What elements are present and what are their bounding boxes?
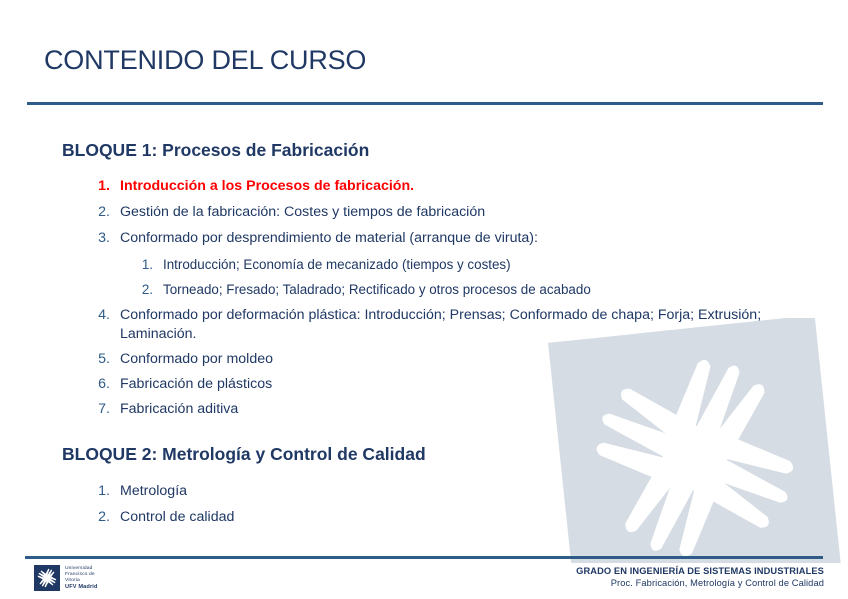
- footer-course-info: GRADO EN INGENIERÍA DE SISTEMAS INDUSTRI…: [576, 566, 824, 588]
- list-item-number: 4.: [88, 306, 110, 325]
- list-item-number: 6.: [88, 375, 110, 394]
- list-item-text: Conformado por desprendimiento de materi…: [120, 229, 788, 248]
- ufv-logo-mark: [34, 565, 60, 591]
- list-item-number: 1.: [88, 482, 110, 501]
- list-item-number: 2.: [88, 203, 110, 222]
- list-item: 1. Introducción a los Procesos de fabric…: [88, 177, 788, 196]
- list-item-number: 2.: [88, 508, 110, 527]
- block-heading-2: BLOQUE 2: Metrología y Control de Calida…: [62, 444, 426, 465]
- list-item: 4. Conformado por deformación plástica: …: [88, 306, 788, 344]
- ufv-logo-text: Universidad Francisco de Vitoria UFV Mad…: [65, 566, 98, 591]
- list-item-text: Conformado por moldeo: [120, 350, 788, 369]
- list-item: 3. Conformado por desprendimiento de mat…: [88, 229, 788, 248]
- list-item-text: Control de calidad: [120, 508, 788, 527]
- list-item-text: Conformado por deformación plástica: Int…: [120, 306, 788, 344]
- list-item: 7. Fabricación aditiva: [88, 400, 788, 419]
- logo-line-4: UFV Madrid: [65, 584, 98, 590]
- list-item: 6. Fabricación de plásticos: [88, 375, 788, 394]
- list-item-text: Metrología: [120, 482, 788, 501]
- list-item: 1. Introducción; Economía de mecanizado …: [135, 255, 775, 274]
- footer-subject-name: Proc. Fabricación, Metrología y Control …: [576, 578, 824, 588]
- list-item-number: 3.: [88, 229, 110, 248]
- page-title: CONTENIDO DEL CURSO: [44, 45, 366, 76]
- list-item: 1. Metrología: [88, 482, 788, 501]
- list-item-number: 1.: [135, 255, 153, 274]
- block-heading-1: BLOQUE 1: Procesos de Fabricación: [62, 140, 369, 161]
- list-item-text: Introducción; Economía de mecanizado (ti…: [163, 255, 775, 274]
- ufv-logo: Universidad Francisco de Vitoria UFV Mad…: [34, 565, 98, 591]
- list-item-number: 5.: [88, 350, 110, 369]
- slide-canvas: CONTENIDO DEL CURSO BLOQUE 1: Procesos d…: [0, 0, 848, 599]
- list-item-text: Fabricación aditiva: [120, 400, 788, 419]
- list-item: 2. Gestión de la fabricación: Costes y t…: [88, 203, 788, 222]
- list-item: 2. Control de calidad: [88, 508, 788, 527]
- footer-degree-name: GRADO EN INGENIERÍA DE SISTEMAS INDUSTRI…: [576, 566, 824, 576]
- list-item-number: 2.: [135, 280, 153, 299]
- footer-divider: [25, 556, 823, 559]
- title-divider: [27, 102, 823, 105]
- list-item-number: 1.: [88, 177, 110, 196]
- list-item-number: 7.: [88, 400, 110, 419]
- list-item-text: Torneado; Fresado; Taladrado; Rectificad…: [163, 280, 775, 299]
- list-item: 2. Torneado; Fresado; Taladrado; Rectifi…: [135, 280, 775, 299]
- list-item-text: Gestión de la fabricación: Costes y tiem…: [120, 203, 788, 222]
- list-item-text: Fabricación de plásticos: [120, 375, 788, 394]
- list-item: 5. Conformado por moldeo: [88, 350, 788, 369]
- list-item-text: Introducción a los Procesos de fabricaci…: [120, 177, 788, 196]
